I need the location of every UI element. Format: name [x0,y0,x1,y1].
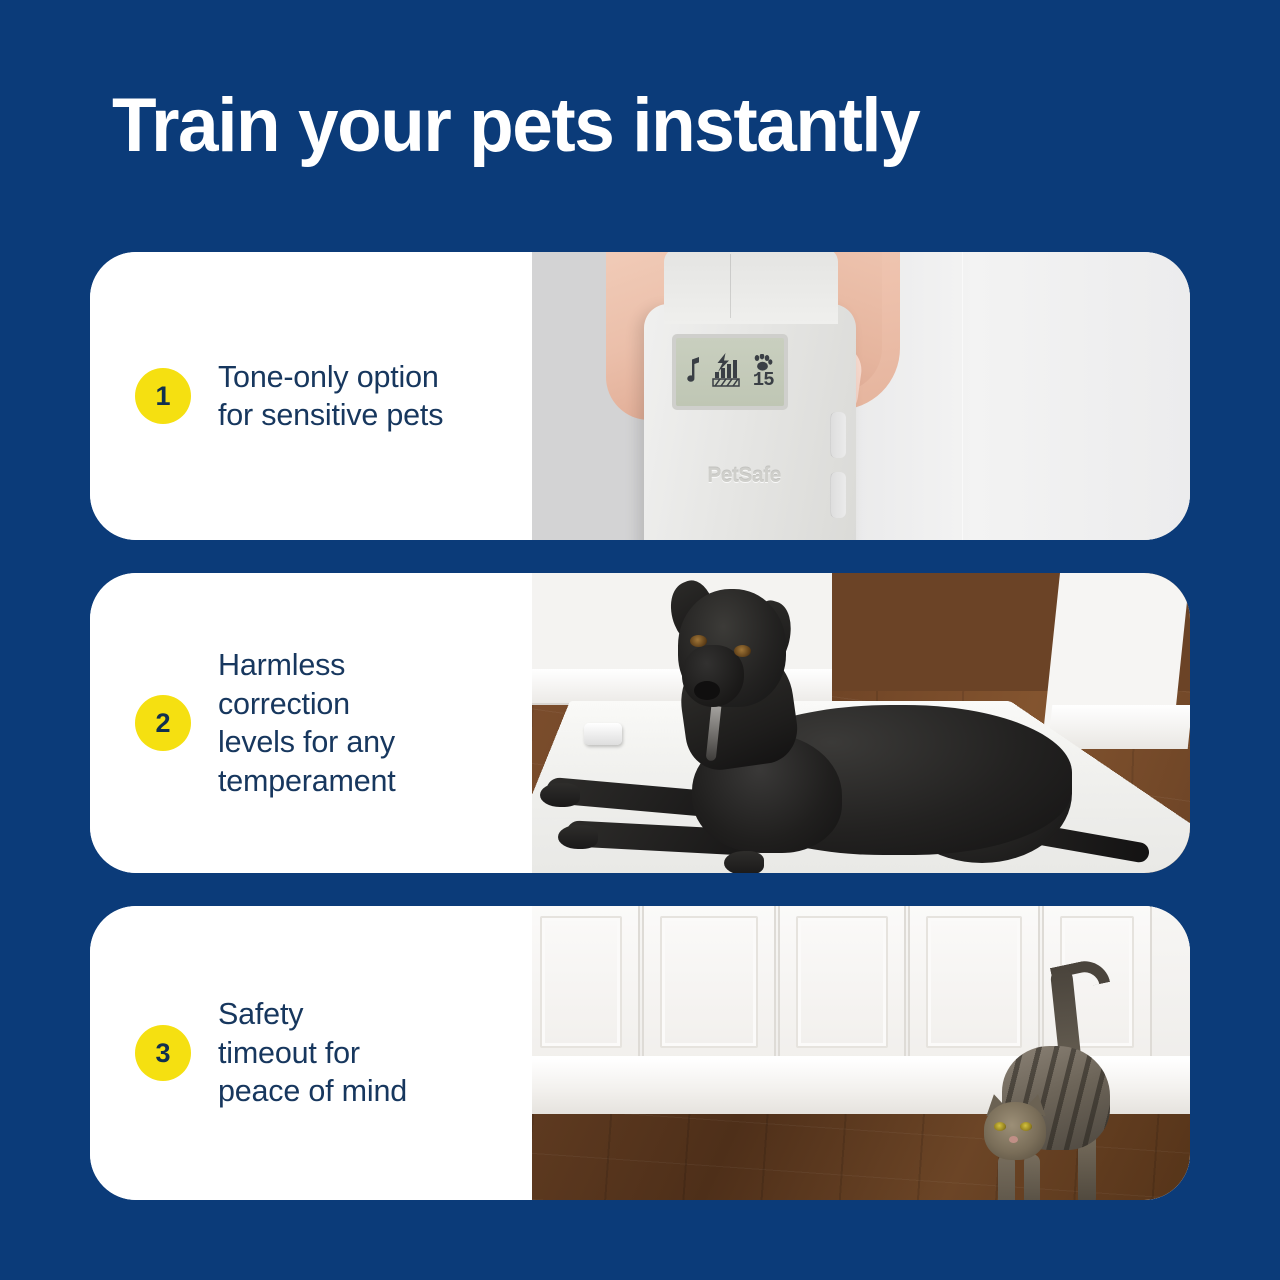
dog-eye [734,645,751,657]
cat-head [984,1102,1046,1160]
petsafe-logo: PetSafe [678,464,810,488]
cabinet-door [908,906,1040,1062]
page-title: Train your pets instantly [112,86,1149,166]
training-device [584,723,622,745]
photo-cat-by-cabinets [532,906,1190,1200]
cat-front-leg [998,1154,1015,1200]
feature-number-badge-3: 3 [135,1025,191,1081]
dog-paw [724,851,764,873]
dog-paw [540,783,580,807]
photo-dog-on-floor [532,573,1190,873]
feature-label-3: Safety timeout for peace of mind [218,995,407,1111]
cat-nose [1009,1136,1018,1143]
dog-eye [690,635,707,647]
feature-card-3-text-panel: 3 Safety timeout for peace of mind [90,906,532,1200]
feature-card-1-text-panel: 1 Tone-only option for sensitive pets [90,252,532,540]
cat-eye [994,1122,1006,1131]
remote-side-button[interactable] [830,412,846,458]
feature-card-2: 2 Harmless correction levels for any tem… [90,573,1190,873]
dog-paw [558,825,598,849]
feature-card-2-text-panel: 2 Harmless correction levels for any tem… [90,573,532,873]
lcd-bezel: 15 [672,334,788,410]
cat-front-leg [1024,1154,1040,1200]
remote-side-button[interactable] [830,472,846,518]
remote-top-cap [664,252,838,324]
wall-seam [962,252,963,540]
feature-card-1: 1 Tone-only option for sensitive pets [90,252,1190,540]
feature-label-2: Harmless correction levels for any tempe… [218,646,396,800]
music-note-icon [686,357,701,388]
pet-level-indicator: 15 [753,354,774,390]
photo-hand-holding-remote: 15 PetSafe [532,252,1190,540]
lcd-level-value: 15 [753,371,774,390]
lightning-bolt-level-bars-icon [712,353,742,392]
cabinet-door [778,906,906,1062]
lcd-screen: 15 [676,338,784,406]
feature-number-badge-1: 1 [135,368,191,424]
feature-label-1: Tone-only option for sensitive pets [218,358,443,435]
cabinet-door [532,906,640,1062]
feature-number-badge-2: 2 [135,695,191,751]
cat-eye [1020,1122,1032,1131]
remote-seam [730,254,731,318]
feature-card-3: 3 Safety timeout for peace of mind [90,906,1190,1200]
remote-transmitter-device: 15 PetSafe [644,304,856,540]
dog-nose [694,681,720,700]
cabinet-door [642,906,776,1062]
